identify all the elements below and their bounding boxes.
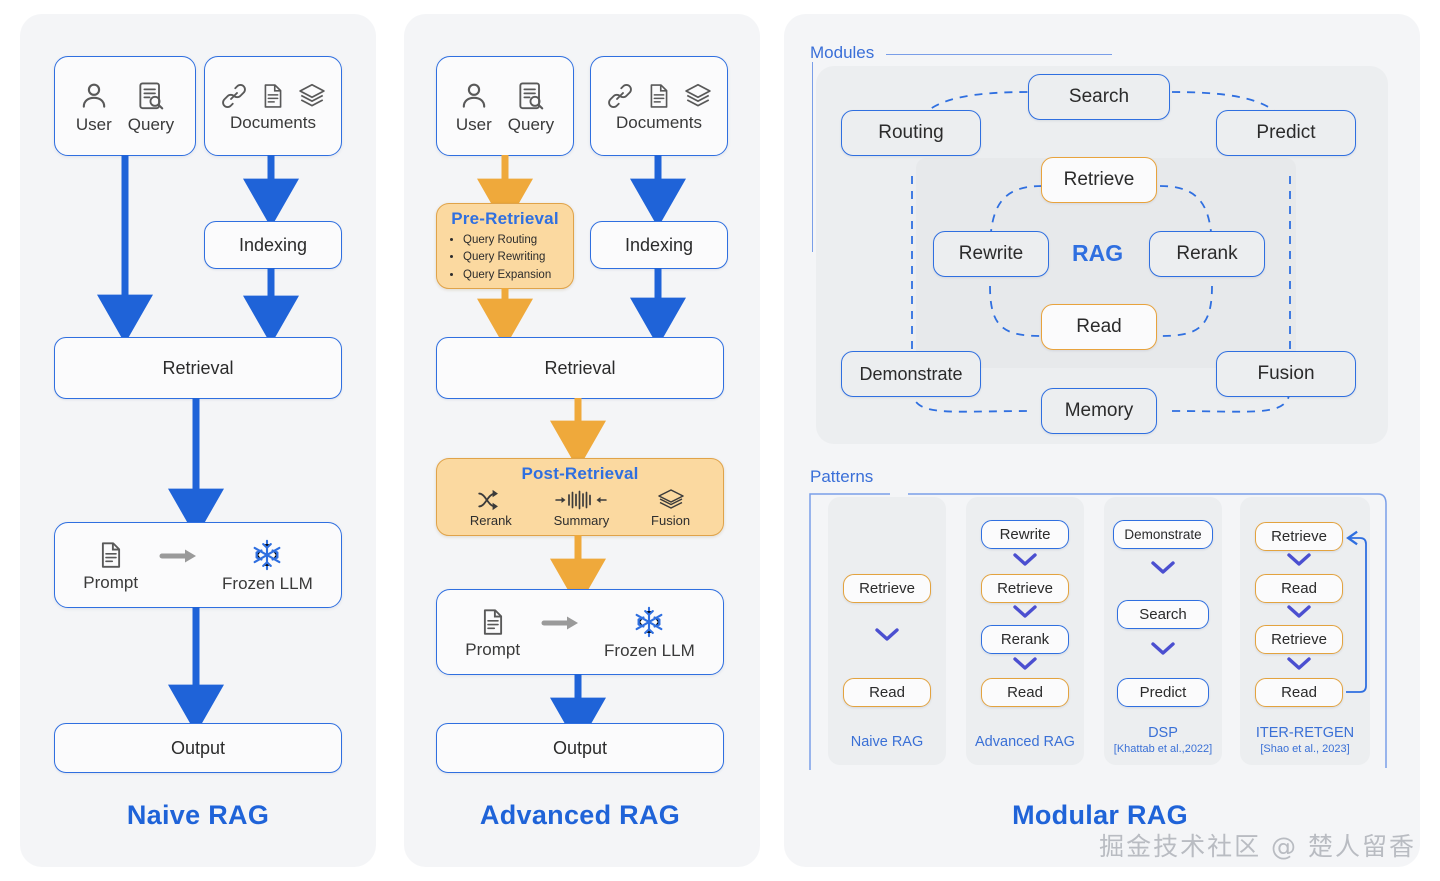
advanced-frozen-label: Frozen LLM — [604, 641, 695, 661]
module-node-predict[interactable]: Predict — [1216, 110, 1356, 156]
naive-query-label: Query — [128, 115, 174, 135]
modules-core-word: RAG — [1072, 240, 1123, 267]
compress-icon — [555, 488, 607, 512]
pattern-iter-step-2-label: Retrieve — [1271, 631, 1327, 648]
pre-retrieval-item: Query Routing — [463, 232, 573, 249]
advanced-llm-box[interactable]: Prompt Frozen LLM — [436, 589, 724, 675]
module-node-rewrite[interactable]: Rewrite — [933, 231, 1049, 277]
pattern-advanced-caption: Advanced RAG — [966, 734, 1084, 750]
module-node-demonstrate[interactable]: Demonstrate — [841, 351, 981, 397]
pattern-advanced-step-1[interactable]: Retrieve — [981, 574, 1069, 603]
module-label-retrieve: Retrieve — [1064, 169, 1135, 191]
modules-section-label: Modules — [810, 43, 874, 63]
arrow-right-icon — [542, 614, 582, 632]
naive-retrieval-label: Retrieval — [162, 358, 233, 379]
module-node-rerank[interactable]: Rerank — [1149, 231, 1265, 277]
post-summary-label: Summary — [554, 513, 610, 528]
naive-prompt-cell: Prompt — [83, 539, 138, 593]
stack-merge-icon — [654, 488, 688, 512]
layers-icon — [297, 81, 327, 111]
pattern-iter-step-1-label: Read — [1281, 580, 1317, 597]
pre-retrieval-item: Query Rewriting — [463, 249, 573, 266]
pattern-dsp-step-2-label: Predict — [1140, 684, 1187, 701]
pattern-advanced-step-3[interactable]: Read — [981, 678, 1069, 707]
module-node-retrieve[interactable]: Retrieve — [1041, 157, 1157, 203]
advanced-arrow-pre-to-retrieval — [490, 288, 526, 344]
advanced-output-node[interactable]: Output — [436, 723, 724, 773]
naive-output-node[interactable]: Output — [54, 723, 342, 773]
post-retrieval-title: Post-Retrieval — [437, 459, 723, 484]
pattern-iter-feedback-loop — [1340, 528, 1374, 700]
naive-frozen-cell: Frozen LLM — [222, 538, 313, 594]
pattern-naive-step-1[interactable]: Read — [843, 678, 931, 707]
user-icon — [77, 79, 111, 113]
pattern-iter-citation: [Shao et al., 2023] — [1240, 743, 1370, 755]
pattern-advanced-chevron-0 — [1012, 552, 1038, 568]
pattern-iter-step-3[interactable]: Read — [1255, 678, 1343, 707]
module-label-search: Search — [1069, 86, 1129, 108]
advanced-prompt-label: Prompt — [465, 640, 520, 660]
shuffle-icon — [476, 488, 506, 512]
pattern-iter-step-0[interactable]: Retrieve — [1255, 522, 1343, 551]
module-node-search[interactable]: Search — [1028, 74, 1170, 120]
advanced-query-label: Query — [508, 115, 554, 135]
post-fusion-label: Fusion — [651, 513, 690, 528]
pattern-advanced-step-2[interactable]: Rerank — [981, 625, 1069, 654]
watermark: 掘金技术社区 @ 楚人留香 — [1099, 827, 1416, 863]
naive-arrow-llm-to-output — [181, 607, 217, 725]
advanced-frozen-cell: Frozen LLM — [604, 605, 695, 661]
module-label-predict: Predict — [1256, 122, 1315, 144]
pattern-dsp-caption: DSP — [1104, 725, 1222, 741]
layers-icon — [683, 81, 713, 111]
advanced-user-query-box[interactable]: User Query — [436, 56, 574, 156]
module-label-rewrite: Rewrite — [959, 243, 1023, 265]
module-node-fusion[interactable]: Fusion — [1216, 351, 1356, 397]
query-document-icon — [135, 79, 167, 113]
user-icon — [457, 79, 491, 113]
module-node-memory[interactable]: Memory — [1041, 388, 1157, 434]
pattern-dsp-chevron-0 — [1150, 560, 1176, 576]
advanced-documents-cell: Documents — [605, 81, 713, 133]
diagram-canvas: User Query — [0, 0, 1440, 881]
module-label-fusion: Fusion — [1257, 363, 1314, 385]
document-icon — [96, 539, 126, 571]
naive-user-cell: User — [76, 79, 112, 135]
pattern-dsp-step-0[interactable]: Demonstrate — [1113, 520, 1213, 549]
module-label-memory: Memory — [1065, 400, 1134, 422]
pattern-naive-step-0[interactable]: Retrieve — [843, 574, 931, 603]
naive-caption: Naive RAG — [54, 800, 342, 831]
document-icon — [259, 81, 287, 111]
pattern-dsp-step-0-label: Demonstrate — [1124, 527, 1201, 542]
pre-retrieval-item: Query Expansion — [463, 267, 573, 284]
pre-retrieval-title: Pre-Retrieval — [437, 204, 573, 229]
post-fusion-cell: Fusion — [651, 488, 690, 528]
pre-retrieval-items: Query Routing Query Rewriting Query Expa… — [437, 232, 573, 284]
naive-documents-box[interactable]: Documents — [204, 56, 342, 156]
pattern-advanced-step-2-label: Rerank — [1001, 631, 1049, 648]
naive-query-cell: Query — [128, 79, 174, 135]
pattern-advanced-chevron-2 — [1012, 656, 1038, 672]
post-retrieval-items: Rerank Summary — [437, 484, 723, 528]
query-document-icon — [515, 79, 547, 113]
naive-llm-box[interactable]: Prompt Frozen LLM — [54, 522, 342, 608]
advanced-arrow-retrieval-to-post — [563, 398, 599, 462]
naive-arrow-indexing-to-retrieval — [256, 268, 292, 338]
module-node-routing[interactable]: Routing — [841, 110, 981, 156]
advanced-indexing-label: Indexing — [625, 235, 693, 256]
naive-indexing-label: Indexing — [239, 235, 307, 256]
advanced-documents-box[interactable]: Documents — [590, 56, 728, 156]
pattern-advanced-step-0-label: Rewrite — [1000, 526, 1051, 543]
advanced-documents-label: Documents — [616, 113, 702, 133]
pattern-dsp-step-1[interactable]: Search — [1117, 600, 1209, 629]
naive-arrow-docs-to-indexing — [256, 155, 292, 221]
snowflake-icon — [249, 538, 285, 572]
advanced-indexing-node[interactable]: Indexing — [590, 221, 728, 269]
pattern-iter-step-2[interactable]: Retrieve — [1255, 625, 1343, 654]
post-summary-cell: Summary — [554, 488, 610, 528]
pattern-advanced-step-3-label: Read — [1007, 684, 1043, 701]
module-label-read: Read — [1076, 316, 1121, 338]
pattern-dsp-chevron-1 — [1150, 641, 1176, 657]
advanced-output-label: Output — [553, 738, 607, 759]
pattern-iter-chevron-0 — [1286, 552, 1312, 568]
pattern-iter-chevron-1 — [1286, 604, 1312, 620]
pattern-advanced-step-0[interactable]: Rewrite — [981, 520, 1069, 549]
pattern-naive-step-0-label: Retrieve — [859, 580, 915, 597]
document-icon — [478, 606, 508, 638]
pattern-advanced-step-1-label: Retrieve — [997, 580, 1053, 597]
post-rerank-label: Rerank — [470, 513, 512, 528]
module-label-rerank: Rerank — [1176, 243, 1237, 265]
advanced-query-cell: Query — [508, 79, 554, 135]
pattern-iter-step-3-label: Read — [1281, 684, 1317, 701]
pattern-advanced-chevron-1 — [1012, 604, 1038, 620]
naive-output-label: Output — [171, 738, 225, 759]
advanced-user-label: User — [456, 115, 492, 135]
advanced-caption: Advanced RAG — [436, 800, 724, 831]
link-icon — [219, 81, 249, 111]
advanced-pre-retrieval-card[interactable]: Pre-Retrieval Query Routing Query Rewrit… — [436, 203, 574, 289]
naive-user-query-box[interactable]: User Query — [54, 56, 196, 156]
pattern-naive-step-1-label: Read — [869, 684, 905, 701]
arrow-right-icon — [160, 547, 200, 565]
pattern-iter-caption: ITER-RETGEN — [1240, 725, 1370, 741]
pattern-dsp-step-2[interactable]: Predict — [1117, 678, 1209, 707]
module-label-demonstrate: Demonstrate — [859, 364, 962, 385]
naive-arrow-user-to-retrieval — [110, 155, 146, 335]
advanced-retrieval-node[interactable]: Retrieval — [436, 337, 724, 399]
advanced-arrow-docs-to-indexing — [643, 155, 679, 221]
naive-documents-label: Documents — [230, 113, 316, 133]
naive-retrieval-node[interactable]: Retrieval — [54, 337, 342, 399]
pattern-iter-chevron-2 — [1286, 656, 1312, 672]
advanced-arrow-indexing-to-retrieval — [643, 268, 679, 340]
module-label-routing: Routing — [878, 122, 944, 144]
post-rerank-cell: Rerank — [470, 488, 512, 528]
pattern-naive-caption: Naive RAG — [828, 734, 946, 750]
naive-indexing-node[interactable]: Indexing — [204, 221, 342, 269]
document-icon — [645, 81, 673, 111]
advanced-post-retrieval-card[interactable]: Post-Retrieval Rerank — [436, 458, 724, 536]
naive-prompt-label: Prompt — [83, 573, 138, 593]
naive-user-label: User — [76, 115, 112, 135]
modules-left-bar — [812, 62, 813, 252]
naive-arrow-retrieval-to-llm — [181, 398, 217, 530]
link-icon — [605, 81, 635, 111]
naive-frozen-label: Frozen LLM — [222, 574, 313, 594]
advanced-prompt-cell: Prompt — [465, 606, 520, 660]
advanced-user-cell: User — [456, 79, 492, 135]
pattern-dsp-citation: [Khattab et al.,2022] — [1098, 743, 1228, 755]
modules-rule — [886, 54, 1112, 55]
pattern-iter-step-0-label: Retrieve — [1271, 528, 1327, 545]
advanced-retrieval-label: Retrieval — [544, 358, 615, 379]
pattern-naive-chevron-0 — [874, 627, 900, 643]
naive-documents-cell: Documents — [219, 81, 327, 133]
module-node-read[interactable]: Read — [1041, 304, 1157, 350]
pattern-iter-step-1[interactable]: Read — [1255, 574, 1343, 603]
snowflake-icon — [631, 605, 667, 639]
pattern-dsp-step-1-label: Search — [1139, 606, 1187, 623]
